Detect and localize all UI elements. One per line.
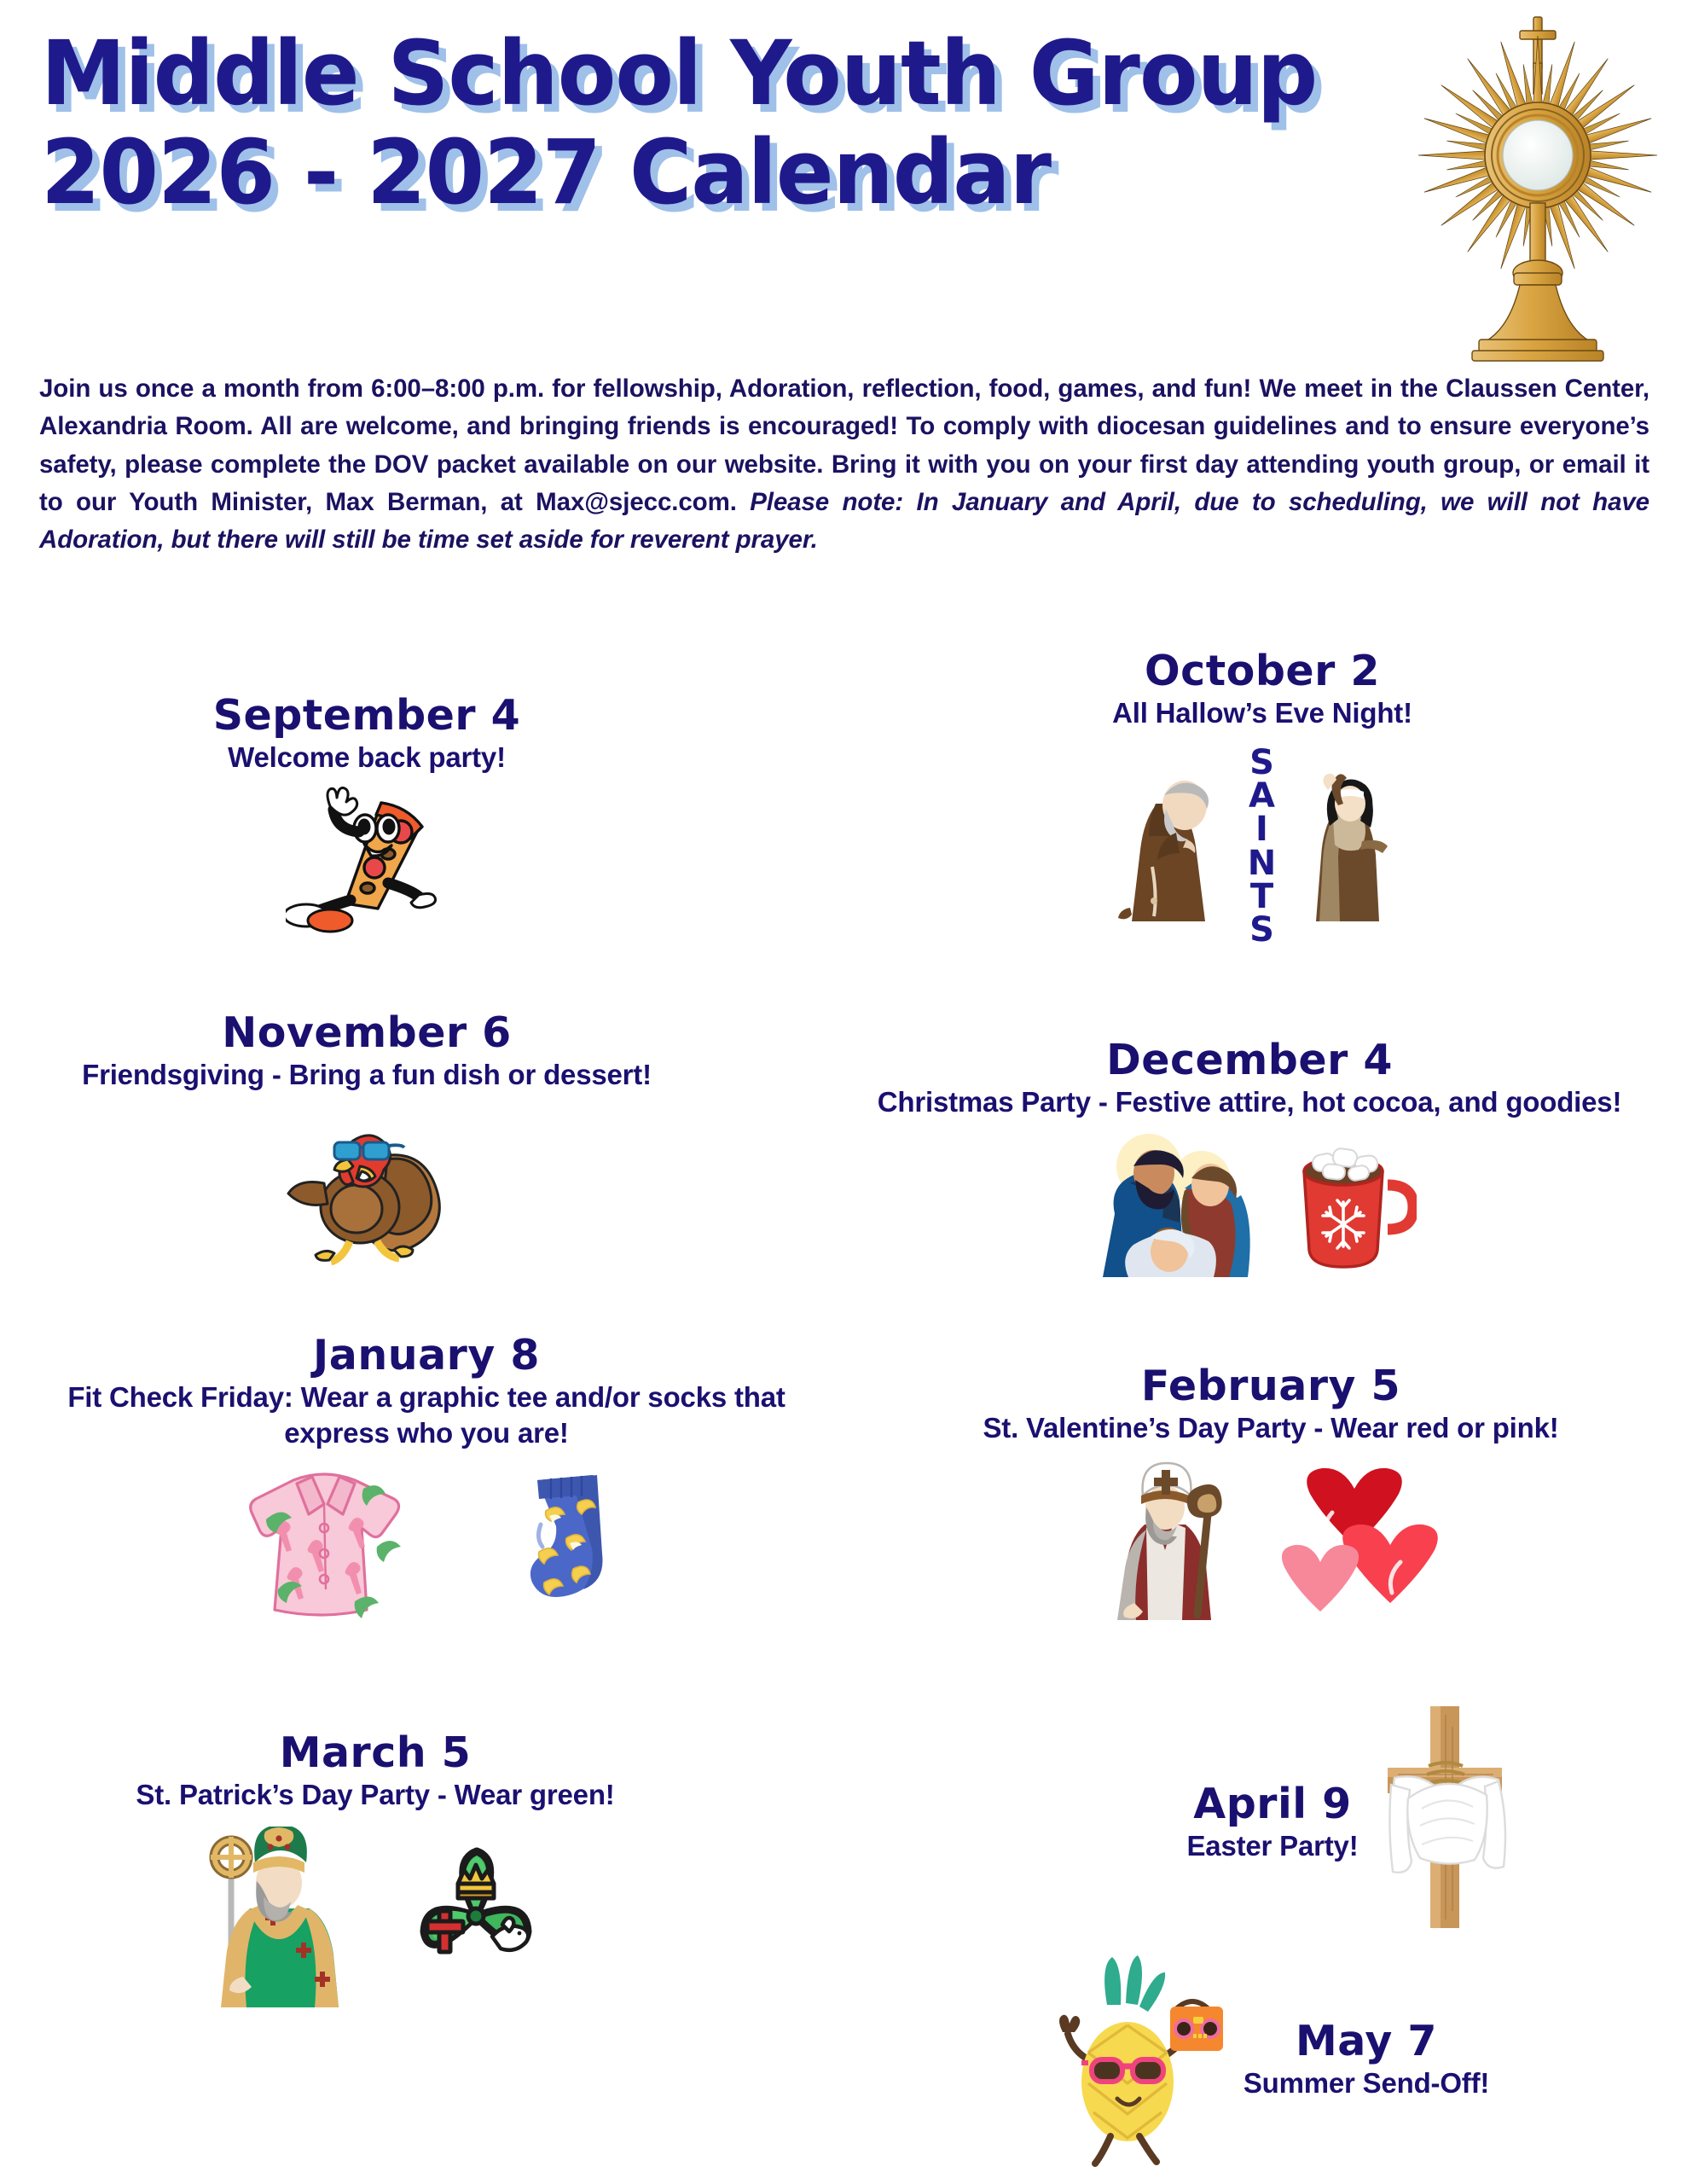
event-month-april: April 9 [1186,1781,1358,1828]
saints-letter-n: N [1248,847,1277,880]
saints-letter-t: T [1248,880,1277,914]
friar-saint-icon [1115,771,1234,923]
pizza-mascot-icon [286,775,448,933]
page-title: Middle School Youth Group 2026 - 2027 Ca… [41,24,1423,223]
banana-socks-icon [490,1465,626,1627]
event-may: May 7 Summer Send-Off! [921,1954,1612,2167]
turkey-sunglasses-icon [281,1105,452,1267]
shamrock-trinity-icon [395,1838,557,1996]
cocoa-mug-icon [1289,1136,1417,1274]
event-art-december [853,1132,1646,1277]
event-art-october: S A I N T S [878,746,1646,947]
event-art-september [60,775,674,933]
saints-letter-s1: S [1248,746,1277,780]
event-art-february [896,1458,1646,1620]
event-march: March 5 St. Patrick’s Day Party - Wear g… [94,1730,657,2007]
event-art-march [94,1827,657,2007]
event-october: October 2 All Hallow’s Eve Night! S A I … [878,648,1646,947]
saints-letter-a: A [1248,780,1277,813]
event-description-february: St. Valentine’s Day Party - Wear red or … [896,1410,1646,1446]
event-description-december: Christmas Party - Festive attire, hot co… [853,1084,1646,1120]
event-february: February 5 St. Valentine’s Day Party - W… [896,1363,1646,1620]
event-january: January 8 Fit Check Friday: Wear a graph… [17,1333,836,1627]
event-month-october: October 2 [878,648,1646,695]
event-month-september: September 4 [60,693,674,740]
saints-letter-s2: S [1248,914,1277,947]
event-may-row: May 7 Summer Send-Off! [921,1954,1612,2167]
event-description-october: All Hallow’s Eve Night! [878,695,1646,731]
pineapple-boombox-icon [1044,1954,1232,2167]
event-april: April 9 Easter Party! [1092,1757,1620,1928]
event-art-november [51,1105,682,1267]
event-september: September 4 Welcome back party! [60,693,674,933]
event-description-april: Easter Party! [1186,1828,1358,1864]
saints-letter-i: I [1248,813,1277,846]
event-description-november: Friendsgiving - Bring a fun dish or dess… [51,1057,682,1093]
event-description-january: Fit Check Friday: Wear a graphic tee and… [17,1380,836,1451]
event-description-may: Summer Send-Off! [1244,2065,1489,2101]
saints-vertical-label: S A I N T S [1248,746,1277,947]
flamingo-shirt-icon [227,1465,423,1627]
event-month-may: May 7 [1244,2018,1489,2065]
event-december: December 4 Christmas Party - Festive att… [853,1037,1646,1277]
event-april-row: April 9 Easter Party! [1092,1757,1620,1928]
event-month-march: March 5 [94,1730,657,1777]
event-month-december: December 4 [853,1037,1646,1084]
hearts-icon [1272,1461,1439,1617]
event-art-january [17,1465,836,1627]
nun-saint-icon [1290,771,1410,923]
st-valentine-icon [1104,1458,1249,1620]
holy-family-icon [1082,1132,1265,1277]
st-patrick-icon [194,1827,364,2007]
intro-paragraph: Join us once a month from 6:00–8:00 p.m.… [39,370,1649,559]
event-description-march: St. Patrick’s Day Party - Wear green! [94,1777,657,1813]
event-description-september: Welcome back party! [60,740,674,775]
title-line-1: Middle School Youth Group [41,24,1367,123]
monstrance-icon [1390,2,1687,369]
title-line-2: 2026 - 2027 Calendar [41,123,1367,222]
event-month-january: January 8 [17,1333,836,1380]
event-month-november: November 6 [51,1010,682,1057]
draped-cross-icon [1372,1706,1526,1928]
event-month-february: February 5 [896,1363,1646,1410]
event-november: November 6 Friendsgiving - Bring a fun d… [51,1010,682,1267]
